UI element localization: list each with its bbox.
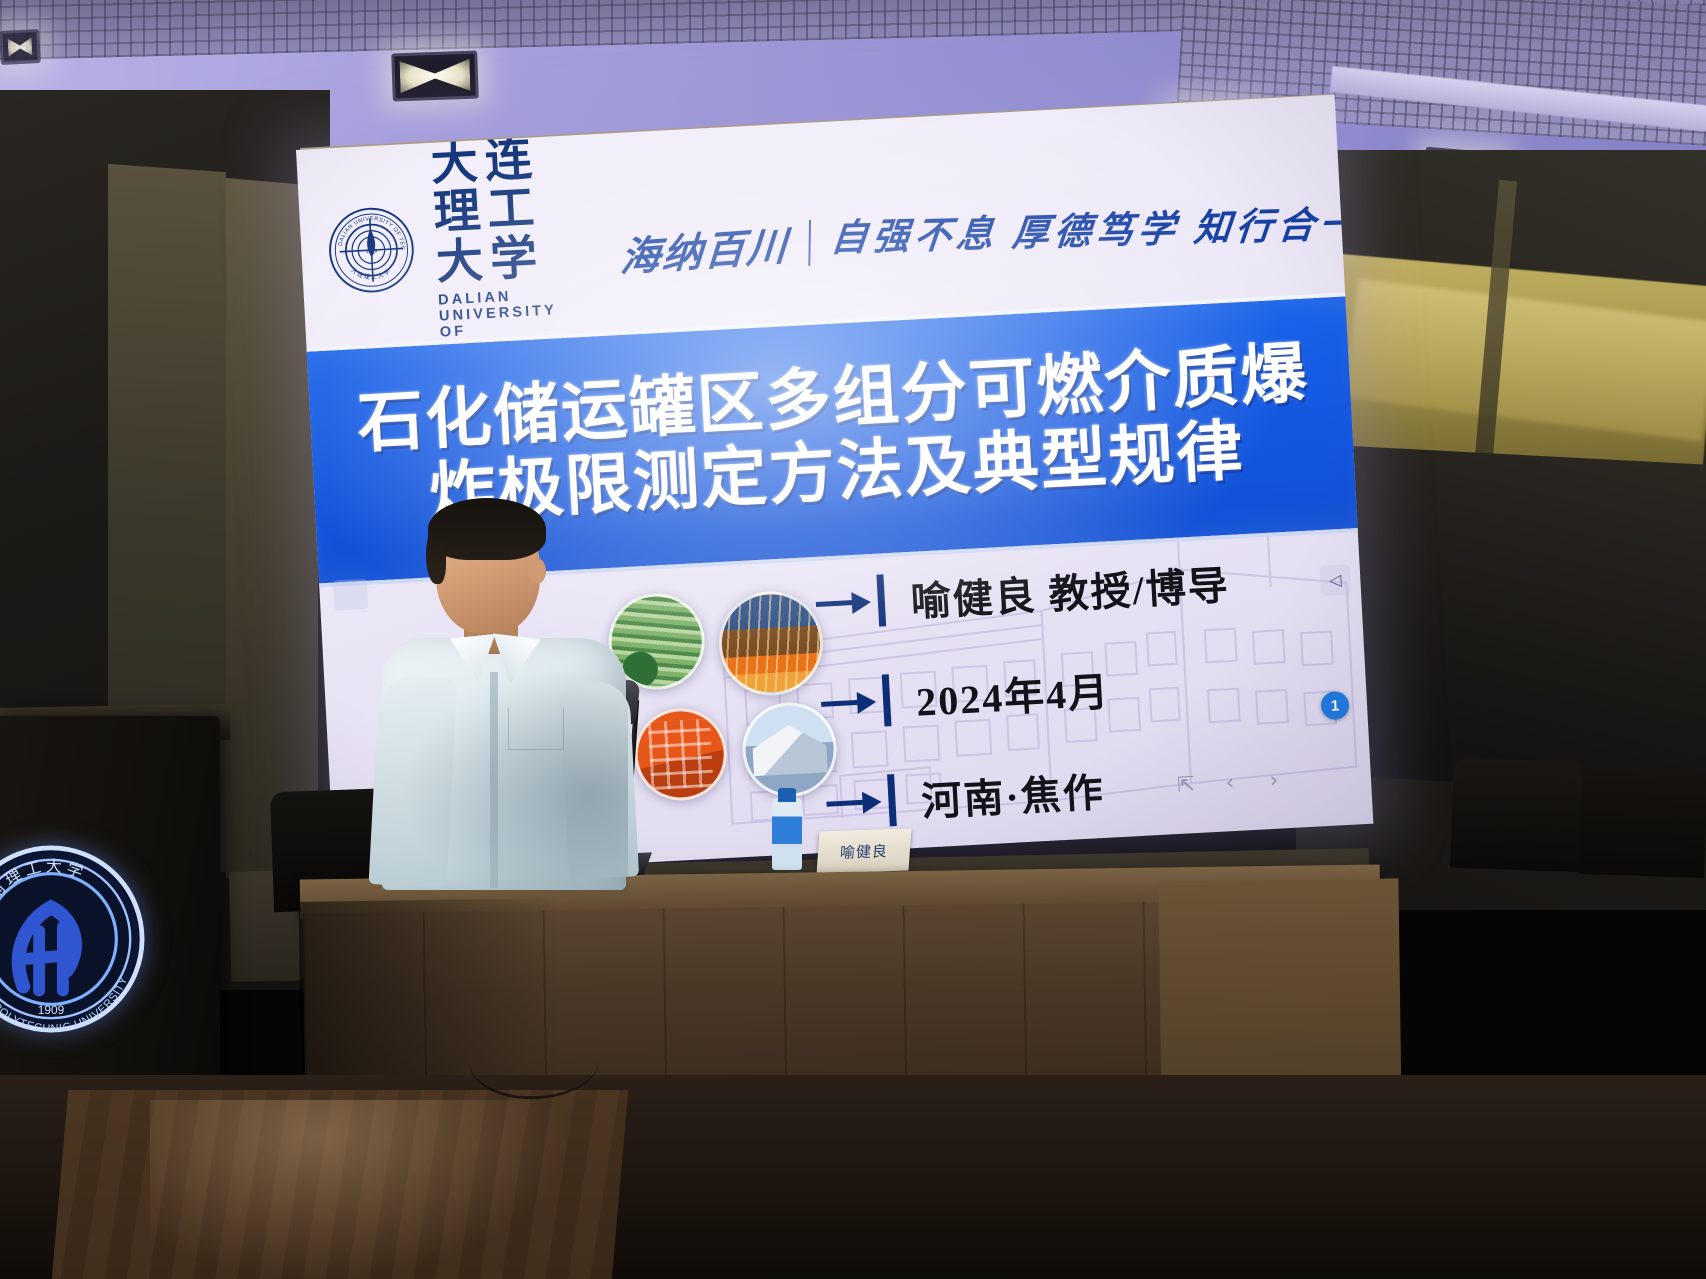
henan-polytechnic-seal-icon: 1909 河 南 理 工 大 学 HENAN POLYTECHNIC UNIVE…	[0, 840, 150, 1038]
arrow-right-icon	[826, 786, 886, 819]
university-name-cn: 大连理工大学	[430, 134, 571, 289]
university-motto: 海纳百川 自强不息 厚德笃学 知行合一	[620, 184, 1365, 281]
desk-nameplate: 喻健良	[817, 828, 912, 873]
prev-slide-icon[interactable]: ‹	[1218, 771, 1241, 794]
ceiling-light-fixture	[0, 29, 41, 65]
presentation-location: 河南·焦作	[920, 760, 1106, 828]
motto-divider	[809, 220, 812, 266]
presentation-date: 2024年4月	[915, 660, 1112, 728]
dlut-seal-icon: 1949 DALIAN UNIVERSITY OF TECHNOLOGY 大 连…	[325, 204, 418, 297]
presenter-arm-right	[559, 680, 639, 879]
svg-text:1909: 1909	[38, 1003, 65, 1017]
ceiling-light-fixture	[391, 51, 479, 102]
chair-right-second	[1578, 766, 1706, 878]
info-bar	[882, 674, 892, 726]
left-panel-tab[interactable]	[333, 579, 369, 611]
share-icon[interactable]: ⇱	[1174, 773, 1197, 796]
water-bottle-cap	[778, 788, 796, 802]
info-bar	[876, 574, 886, 626]
presenter-shirt-pocket	[508, 708, 564, 750]
chair-right	[1450, 758, 1586, 873]
svg-text:1949: 1949	[366, 248, 378, 255]
arrow-right-icon	[820, 686, 880, 719]
motto-part-2: 自强不息 厚德笃学 知行合一	[829, 193, 1365, 262]
svg-text:大 连 理 工 大 学: 大 连 理 工 大 学	[349, 264, 392, 282]
slide-info-block: 喻健良 教授/博导 2024年4月 河南·焦作	[814, 553, 1244, 875]
refinery-night-thumbnail	[716, 589, 825, 698]
equipment-thumbnail	[632, 706, 729, 803]
info-row: 2024年4月	[820, 653, 1237, 733]
presenter-arm-left	[369, 674, 458, 888]
info-bar	[887, 774, 897, 826]
lecture-hall-scene: 1949 DALIAN UNIVERSITY OF TECHNOLOGY 大 连…	[0, 0, 1706, 1279]
presenter-sideburn	[426, 526, 446, 584]
right-panel-tab[interactable]: ◁	[1320, 565, 1352, 597]
floor-reflection	[150, 1100, 570, 1279]
motto-part-1: 海纳百川	[619, 213, 791, 283]
presenter-shirt-placket	[490, 672, 498, 888]
svg-text:DALIAN UNIVERSITY OF TECHNOLOG: DALIAN UNIVERSITY OF TECHNOLOGY	[325, 204, 405, 255]
water-bottle	[772, 798, 802, 870]
next-slide-icon[interactable]: ›	[1262, 768, 1285, 791]
arrow-right-icon	[815, 586, 875, 619]
presenter-ear	[528, 558, 546, 584]
presenter	[368, 496, 636, 888]
